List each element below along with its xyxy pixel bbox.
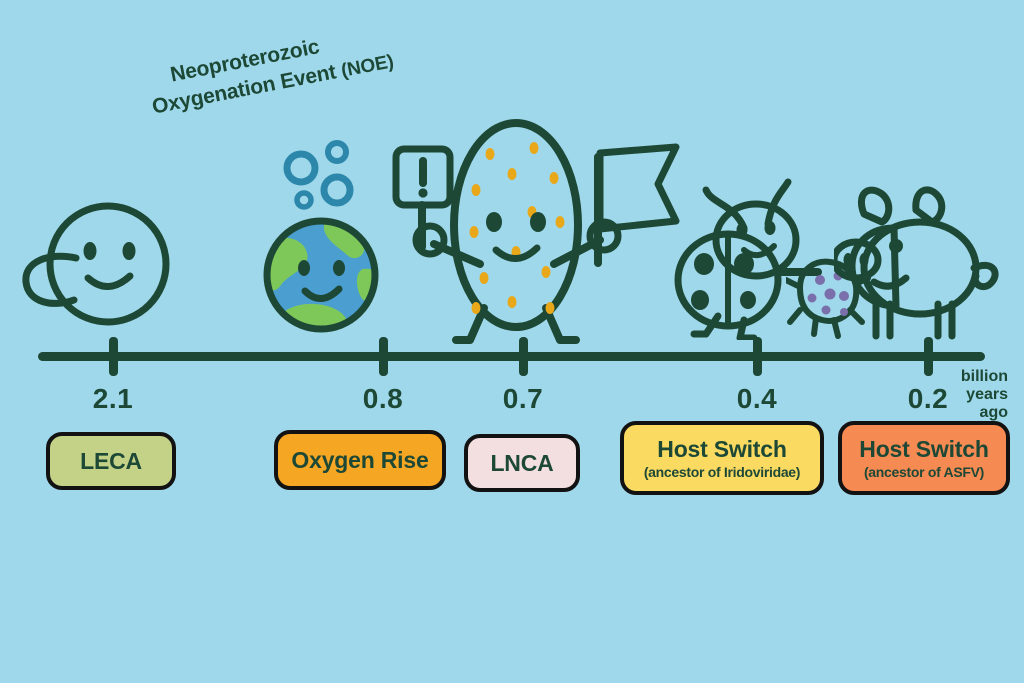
- event-pill-title: Host Switch: [657, 436, 786, 463]
- event-pill-oxygen-rise[interactable]: Oxygen Rise: [274, 430, 446, 490]
- pig-host-figure: [834, 184, 1004, 355]
- event-pill-subtitle: (ancestor of Iridoviridae): [644, 464, 800, 480]
- axis-tick-label: 0.7: [463, 383, 583, 415]
- axis-tick-0.4: [753, 337, 762, 376]
- axis-tick-0.8: [379, 337, 388, 376]
- event-pill-title: LNCA: [490, 450, 553, 477]
- axis-tick-label: 0.4: [697, 383, 817, 415]
- timeline-axis: [38, 352, 985, 361]
- axis-unit-line2: years: [922, 386, 1008, 404]
- axis-tick-label: 2.1: [53, 383, 173, 415]
- event-pill-title: LECA: [80, 448, 142, 475]
- axis-tick-label: 0.8: [323, 383, 443, 415]
- infographic-canvas: Neoproterozoic Oxygenation Event (NOE): [0, 0, 1024, 683]
- event-pill-title: Oxygen Rise: [291, 447, 428, 474]
- leca-cell-figure: [18, 196, 188, 341]
- event-pill-subtitle: (ancestor of ASFV): [864, 464, 984, 480]
- virus-mascot-figure: [404, 112, 630, 357]
- event-pill-lnca[interactable]: LNCA: [464, 434, 580, 492]
- event-pill-host-switch-asfv[interactable]: Host Switch(ancestor of ASFV): [838, 421, 1010, 495]
- earth-globe-figure: [259, 215, 387, 342]
- axis-unit-label: billion years ago: [922, 368, 1008, 422]
- event-pill-title: Host Switch: [859, 436, 988, 463]
- headline-abbreviation: (NOE): [339, 51, 395, 82]
- axis-tick-0.7: [519, 337, 528, 376]
- axis-tick-2.1: [109, 337, 118, 376]
- axis-unit-line1: billion: [922, 368, 1008, 386]
- axis-unit-line3: ago: [922, 404, 1008, 422]
- event-pill-host-switch-irido[interactable]: Host Switch(ancestor of Iridoviridae): [620, 421, 824, 495]
- headline: Neoproterozoic Oxygenation Event (NOE): [168, 10, 444, 116]
- event-pill-leca[interactable]: LECA: [46, 432, 176, 490]
